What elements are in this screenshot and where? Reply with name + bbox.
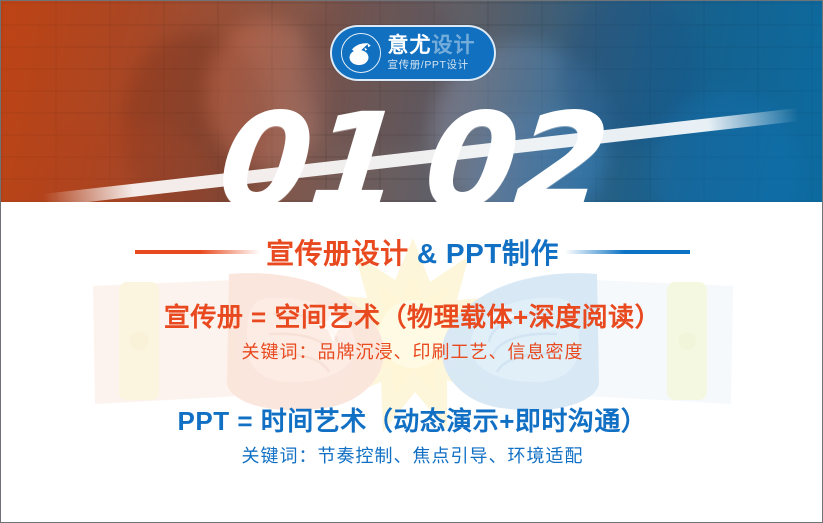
slide-body: 宣传册设计 & PPT制作 宣传册 = 空间艺术（物理载体+深度阅读） 关键词：…	[1, 202, 823, 523]
ppt-heading: PPT = 时间艺术（动态演示+即时沟通）	[1, 406, 823, 437]
slide-canvas: 01 02 意尤设计 宣传册/PPT设计	[0, 0, 823, 523]
brochure-heading: 宣传册 = 空间艺术（物理载体+深度阅读）	[1, 302, 823, 333]
section-title: 宣传册设计 & PPT制作	[1, 232, 823, 272]
section-title-ampersand: &	[409, 238, 446, 269]
content-block-brochure: 宣传册 = 空间艺术（物理载体+深度阅读） 关键词：品牌沉浸、印刷工艺、信息密度	[1, 302, 823, 364]
brand-tagline: 宣传册/PPT设计	[388, 60, 476, 71]
brand-name-light: 设计	[432, 34, 476, 57]
brand-logo-text: 意尤设计 宣传册/PPT设计	[388, 35, 476, 71]
section-title-blue: PPT制作	[446, 238, 559, 269]
brand-name: 意尤设计	[388, 35, 476, 56]
ink-drop-brush-icon	[341, 33, 381, 73]
ppt-keywords: 关键词：节奏控制、焦点引导、环境适配	[1, 446, 823, 468]
hero-photo-band: 01 02 意尤设计 宣传册/PPT设计	[1, 1, 823, 202]
brochure-keywords: 关键词：品牌沉浸、印刷工艺、信息密度	[1, 342, 823, 364]
content-block-ppt: PPT = 时间艺术（动态演示+即时沟通） 关键词：节奏控制、焦点引导、环境适配	[1, 406, 823, 468]
title-rule-right	[565, 250, 690, 254]
section-title-text: 宣传册设计 & PPT制作	[266, 232, 559, 272]
brand-name-bold: 意尤	[388, 34, 432, 57]
section-title-orange: 宣传册设计	[266, 238, 409, 269]
title-rule-left	[135, 250, 260, 254]
brand-logo[interactable]: 意尤设计 宣传册/PPT设计	[330, 25, 496, 81]
